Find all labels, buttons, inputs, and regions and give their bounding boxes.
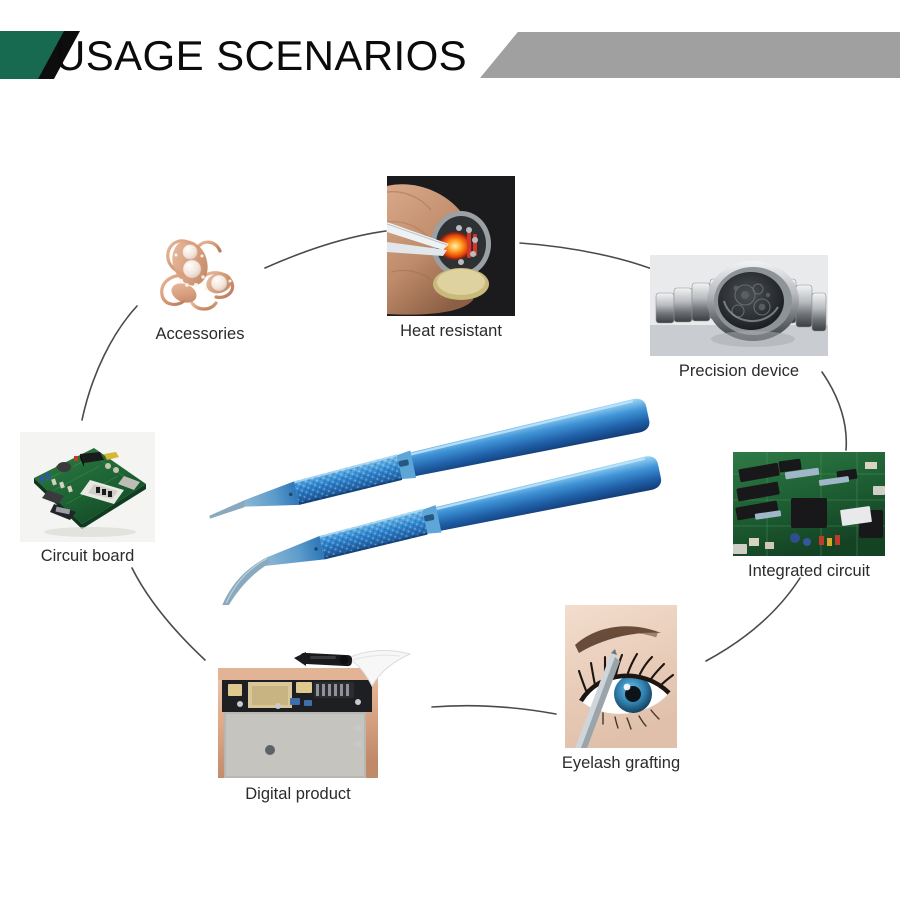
scenario-precision-device: Precision device <box>650 255 828 383</box>
digital-product-label: Digital product <box>245 785 350 804</box>
scenario-eyelash-grafting: Eyelash grafting <box>565 605 677 773</box>
circuit-board-label: Circuit board <box>41 547 135 566</box>
arc-heat-to-precision <box>520 243 660 272</box>
arc-accessories-to-heat <box>265 231 386 268</box>
arc-circuit-to-accessories <box>82 306 137 420</box>
scenario-heat-resistant: Heat resistant <box>387 176 515 341</box>
heat-resistant-image <box>387 176 515 316</box>
scenario-digital-product: Digital product <box>218 668 378 803</box>
plastic-tweezers-icon <box>288 646 418 706</box>
arc-digital-to-circuit <box>132 568 205 660</box>
integrated-circuit-image <box>733 452 885 556</box>
heat-resistant-label: Heat resistant <box>400 322 502 341</box>
infographic-page: USAGE SCENARIOS <box>0 0 900 900</box>
accessories-label: Accessories <box>156 325 245 344</box>
scenario-circuit-board: Circuit board <box>20 432 155 572</box>
precision-device-label: Precision device <box>679 362 799 381</box>
arc-precision-to-ic <box>822 372 846 450</box>
scenario-integrated-circuit: Integrated circuit <box>733 452 885 582</box>
circuit-board-image <box>20 432 155 542</box>
eyelash-grafting-image <box>565 605 677 748</box>
integrated-circuit-label: Integrated circuit <box>748 562 870 581</box>
product-tweezers-image <box>205 355 675 605</box>
accessories-image <box>140 225 260 320</box>
scenario-accessories: Accessories <box>140 225 260 345</box>
precision-device-image <box>650 255 828 356</box>
eyelash-grafting-label: Eyelash grafting <box>562 754 680 773</box>
arc-ic-to-eyelash <box>706 578 800 661</box>
arc-eyelash-to-digital <box>432 706 556 714</box>
